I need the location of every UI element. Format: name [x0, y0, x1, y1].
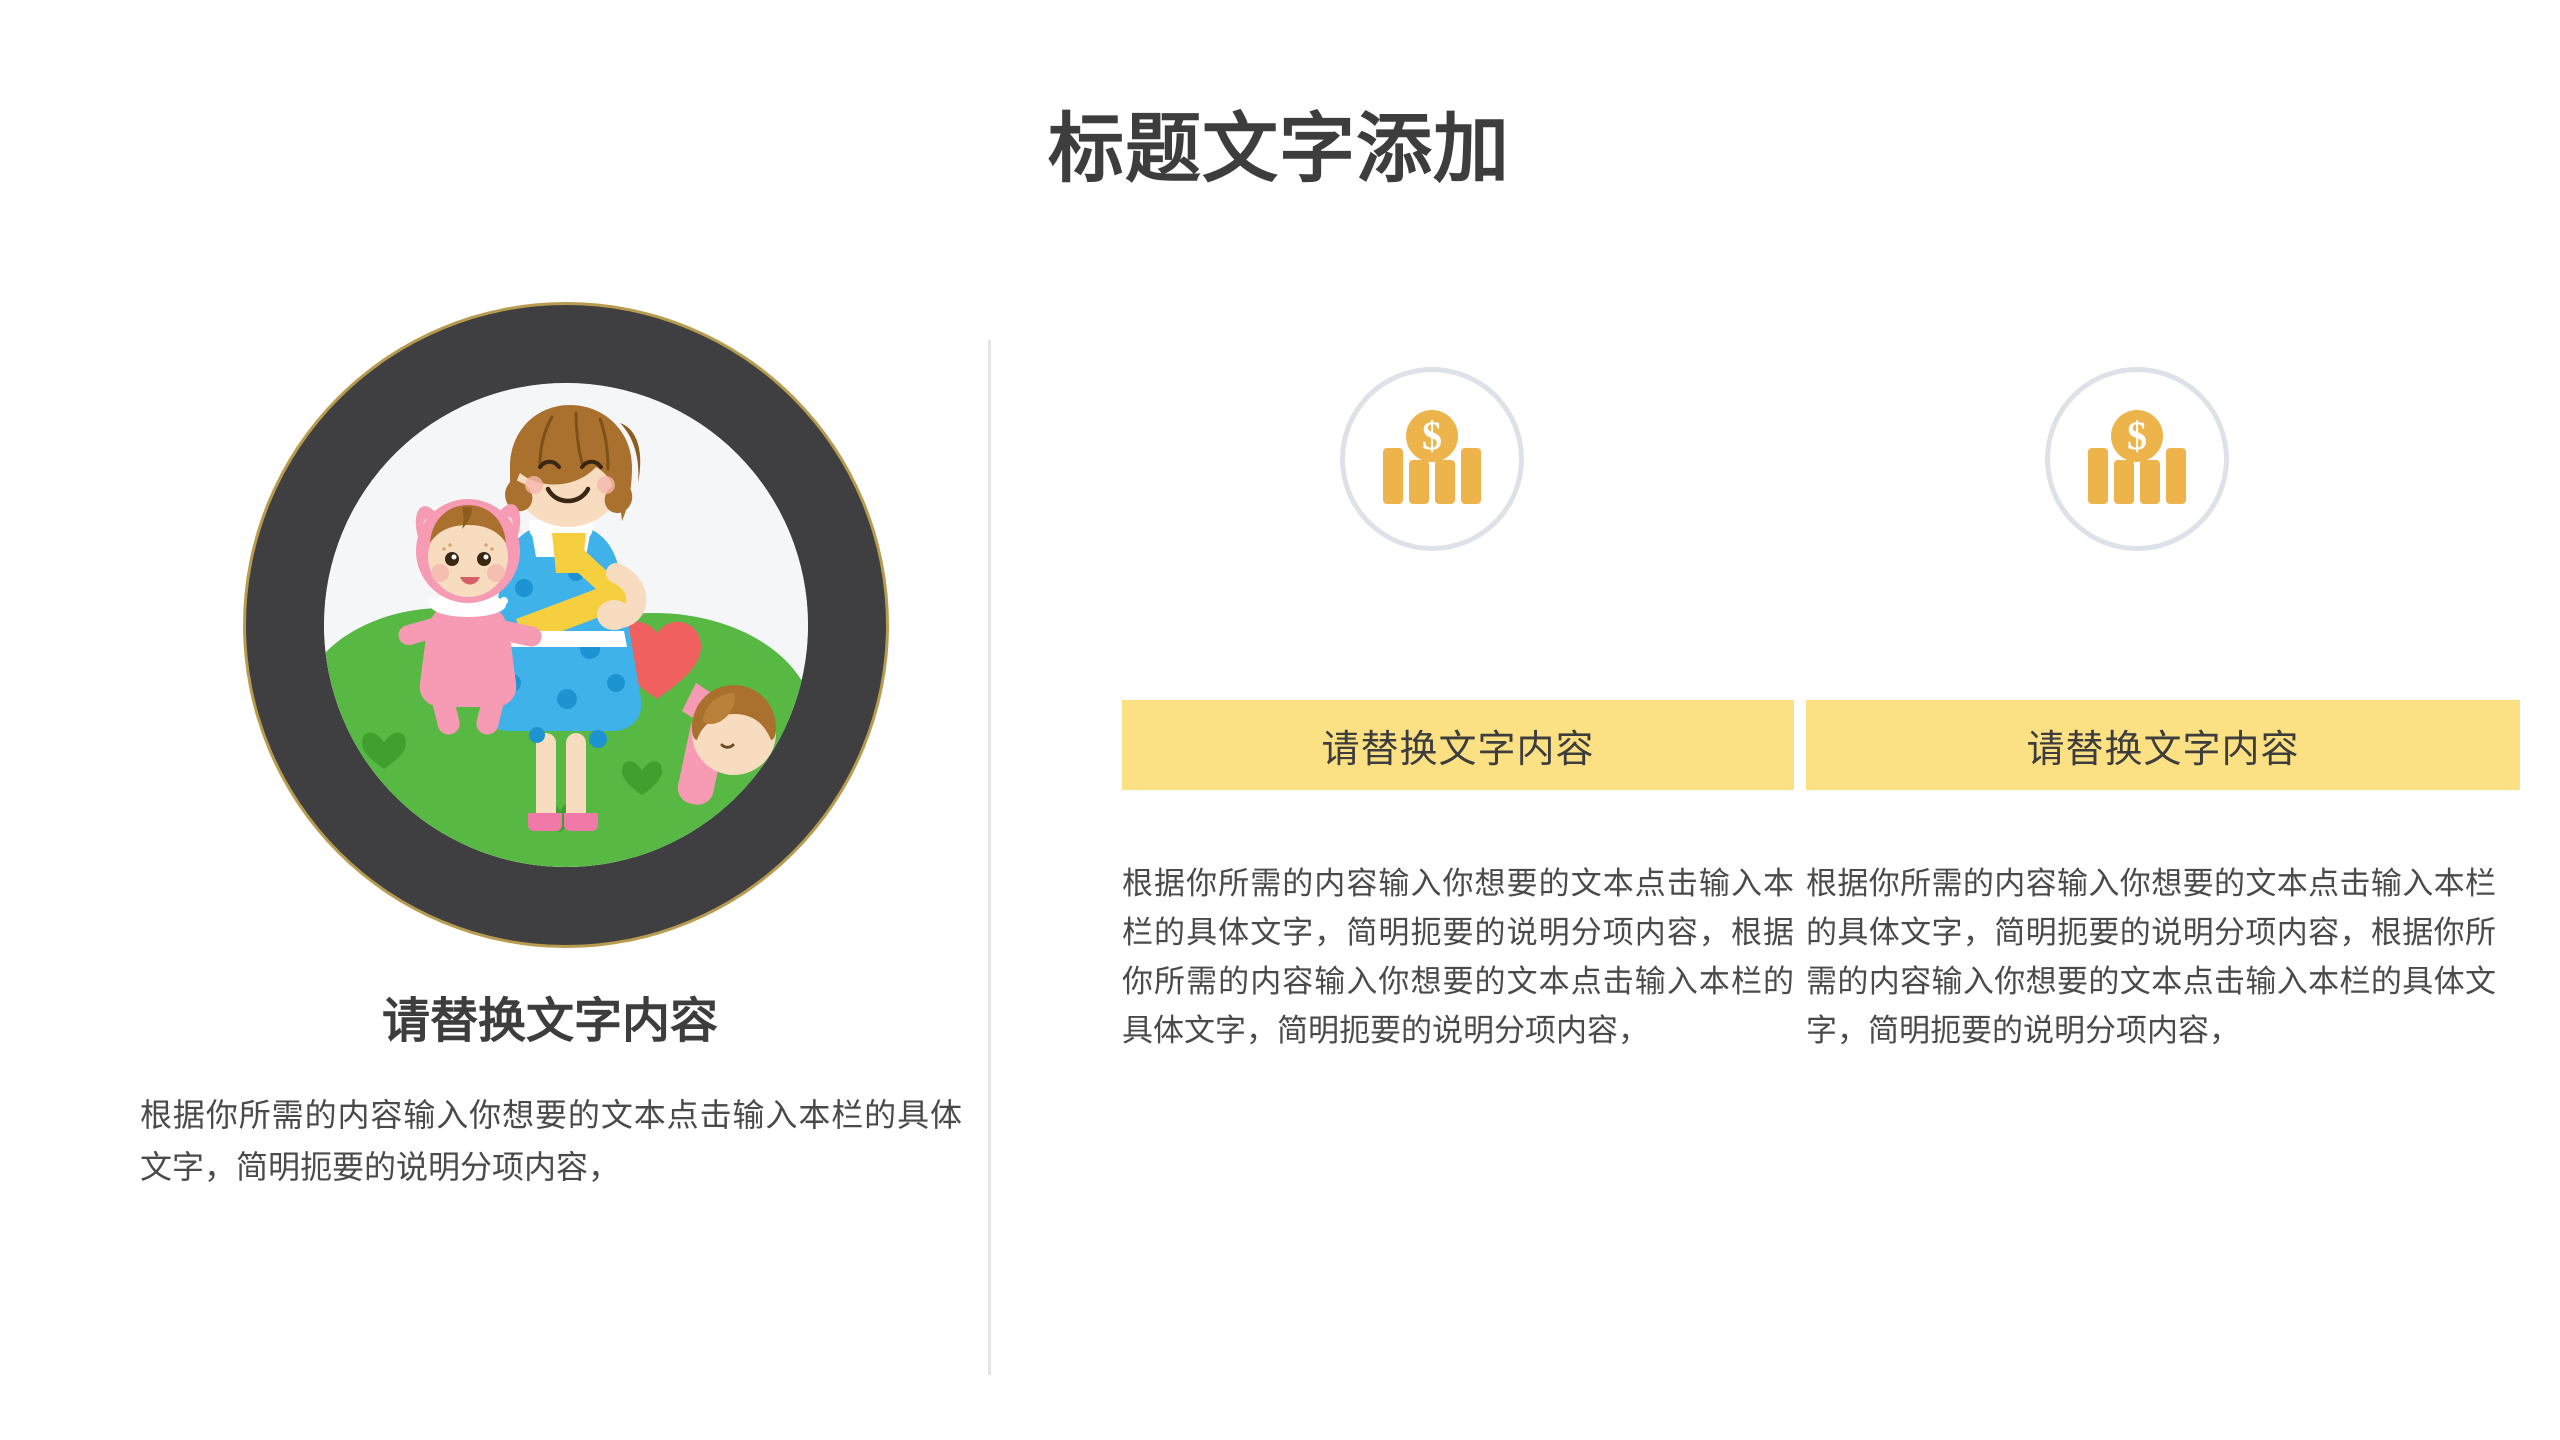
column-body-text: 根据你所需的内容输入你想要的文本点击输入本栏的具体文字，简明扼要的说明分项内容，… [1122, 860, 1794, 1056]
left-body-text: 根据你所需的内容输入你想要的文本点击输入本栏的具体文字，简明扼要的说明分项内容， [140, 1090, 962, 1194]
photo-circle-frame [246, 305, 886, 945]
column-label: 请替换文字内容 [2026, 718, 2299, 773]
column-label-bar[interactable]: 请替换文字内容 [1122, 700, 1794, 790]
money-bar-chart-glyph: $ [1377, 408, 1487, 514]
svg-text:$: $ [2127, 413, 2147, 458]
column-label: 请替换文字内容 [1321, 718, 1594, 773]
svg-text:$: $ [1422, 413, 1442, 458]
money-bar-chart-glyph: $ [2082, 408, 2192, 514]
vertical-divider [988, 340, 991, 1375]
column-label-bar[interactable]: 请替换文字内容 [1806, 700, 2520, 790]
money-bar-chart-icon: $ [1340, 367, 1524, 551]
left-heading: 请替换文字内容 [140, 996, 960, 1049]
photo-circle-image [324, 383, 808, 867]
column-body-text: 根据你所需的内容输入你想要的文本点击输入本栏的具体文字，简明扼要的说明分项内容，… [1806, 860, 2496, 1056]
money-bar-chart-icon: $ [2045, 367, 2229, 551]
mother-and-children-illustration [324, 383, 808, 867]
page-title: 标题文字添加 [1048, 112, 1510, 188]
